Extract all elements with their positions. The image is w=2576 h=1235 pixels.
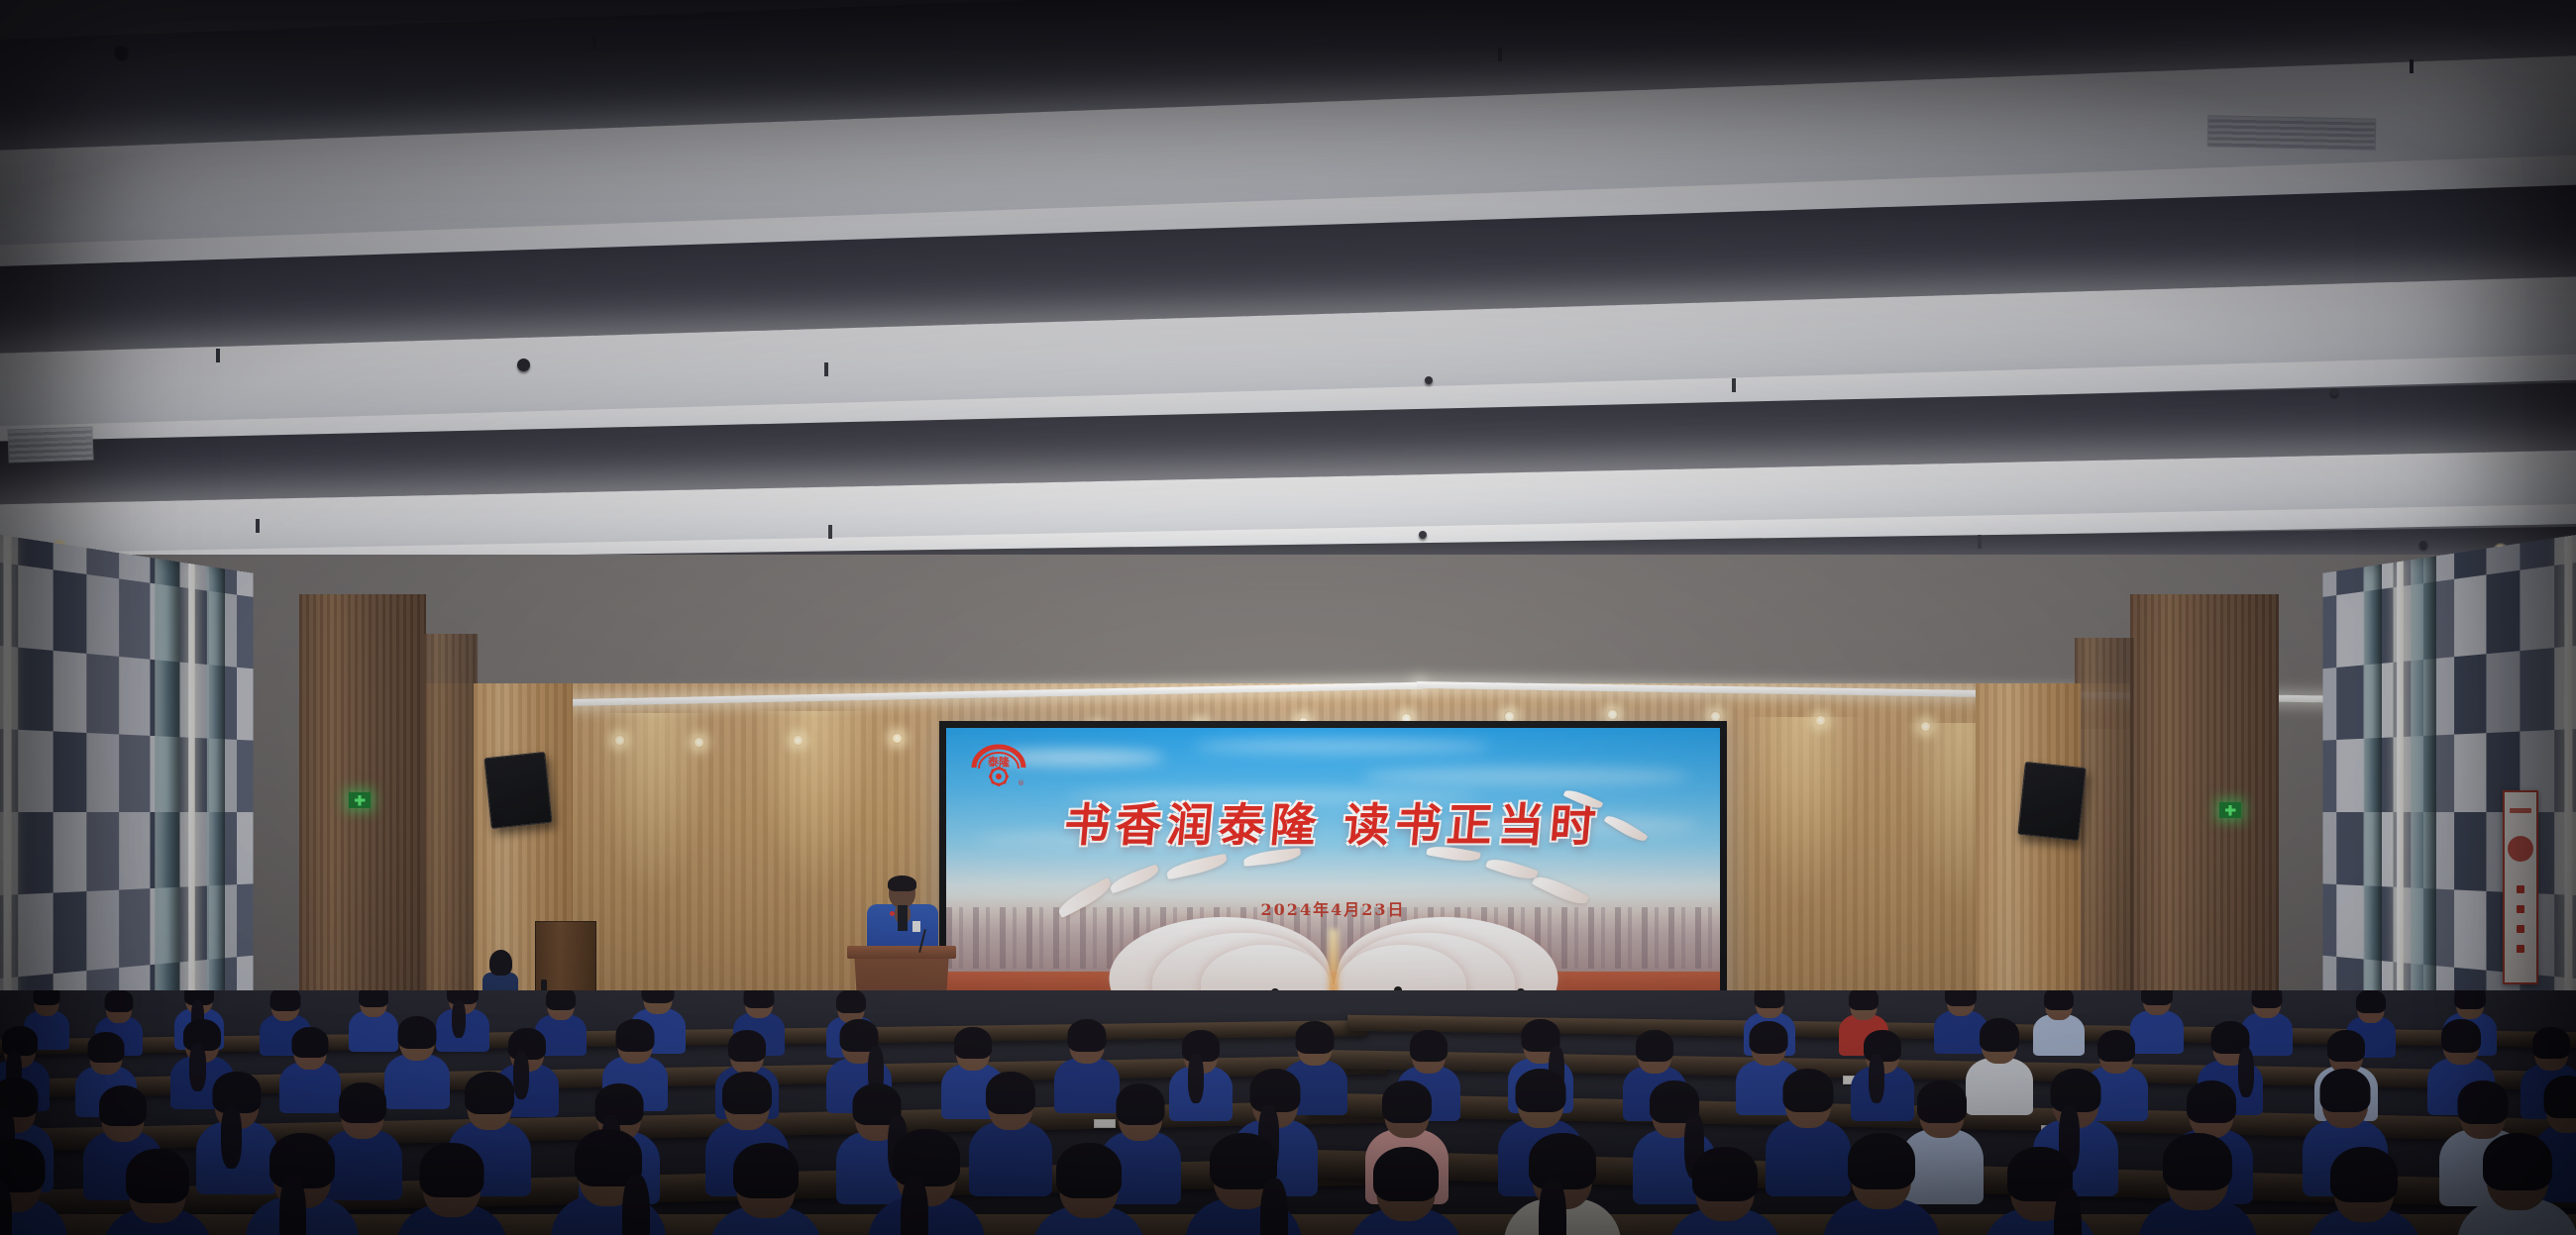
led-screen-content: 泰隆 ® 书香润泰隆 读书正当时 2024年4月23日	[946, 728, 1720, 1008]
stage-spotlight	[892, 733, 903, 744]
attendee	[709, 1143, 822, 1235]
attendee	[1668, 1145, 1781, 1235]
attendee	[2457, 1135, 2576, 1235]
attendee	[1349, 1145, 1462, 1235]
sprinkler-head-icon	[1425, 376, 1433, 384]
ceiling-hanger-icon	[256, 519, 260, 533]
ceiling-hanger-icon	[1978, 535, 1982, 549]
sprinkler-head-icon	[2419, 541, 2427, 549]
air-vent-icon	[7, 427, 93, 463]
wall-speaker-left	[483, 752, 552, 829]
attendee	[2307, 1145, 2421, 1235]
smoke-detector-icon	[115, 46, 128, 58]
glass-mirror-strip	[207, 566, 225, 1059]
wall-wash-glow	[753, 711, 872, 899]
attendee	[1504, 1135, 1621, 1235]
air-vent-icon	[2207, 115, 2377, 151]
audience-area	[0, 990, 2576, 1235]
sprinkler-head-icon	[517, 359, 530, 371]
tailong-company-logo: 泰隆 ®	[968, 744, 1029, 789]
led-display-screen: 泰隆 ® 书香润泰隆 读书正当时 2024年4月23日	[939, 721, 1727, 1015]
sprinkler-head-icon	[2330, 388, 2338, 396]
exit-sign-icon	[2219, 802, 2241, 818]
attendee	[2138, 1135, 2257, 1235]
wall-light-strip	[2397, 561, 2404, 1063]
exit-sign-icon	[349, 792, 371, 808]
ceiling-hanger-icon	[824, 362, 828, 376]
stage-spotlight	[793, 735, 804, 746]
wall-wash-glow	[1744, 717, 1863, 905]
attendee	[0, 1139, 67, 1235]
attendee	[551, 1133, 666, 1235]
stage-spotlight	[1607, 709, 1618, 720]
wall-poster	[2503, 790, 2538, 984]
attendee	[868, 1133, 985, 1235]
stage-spotlight	[614, 735, 625, 746]
wall-light-strip	[188, 564, 194, 1061]
wall-speaker-right	[2017, 762, 2086, 841]
ceiling-hanger-icon	[828, 525, 832, 539]
attendee	[1185, 1135, 1302, 1235]
attendee	[396, 1143, 507, 1235]
conference-hall-photo: 泰隆 ® 书香润泰隆 读书正当时 2024年4月23日	[0, 0, 2576, 1235]
attendee	[1984, 1145, 2096, 1235]
glass-mirror-strip	[2364, 565, 2382, 1061]
ceiling-hanger-icon	[1732, 378, 1736, 392]
ceiling-hanger-icon	[2410, 59, 2414, 73]
attendee	[1032, 1143, 1145, 1235]
stage-spotlight	[1920, 721, 1931, 732]
attendee	[1823, 1135, 1940, 1235]
ceiling-hanger-icon	[592, 36, 596, 50]
attendee	[2033, 990, 2085, 1050]
attendee	[103, 1147, 212, 1235]
podium-top	[847, 946, 956, 959]
stage-spotlight	[694, 737, 704, 748]
stage-spotlight	[1815, 715, 1826, 726]
screen-headline: 书香润泰隆 读书正当时	[946, 789, 1720, 855]
sprinkler-head-icon	[1419, 531, 1427, 539]
ceiling-hanger-icon	[1498, 48, 1502, 61]
svg-text:®: ®	[1018, 779, 1024, 787]
ceiling-hanger-icon	[216, 349, 220, 362]
attendee	[246, 1135, 359, 1235]
svg-text:泰隆: 泰隆	[987, 755, 1011, 769]
